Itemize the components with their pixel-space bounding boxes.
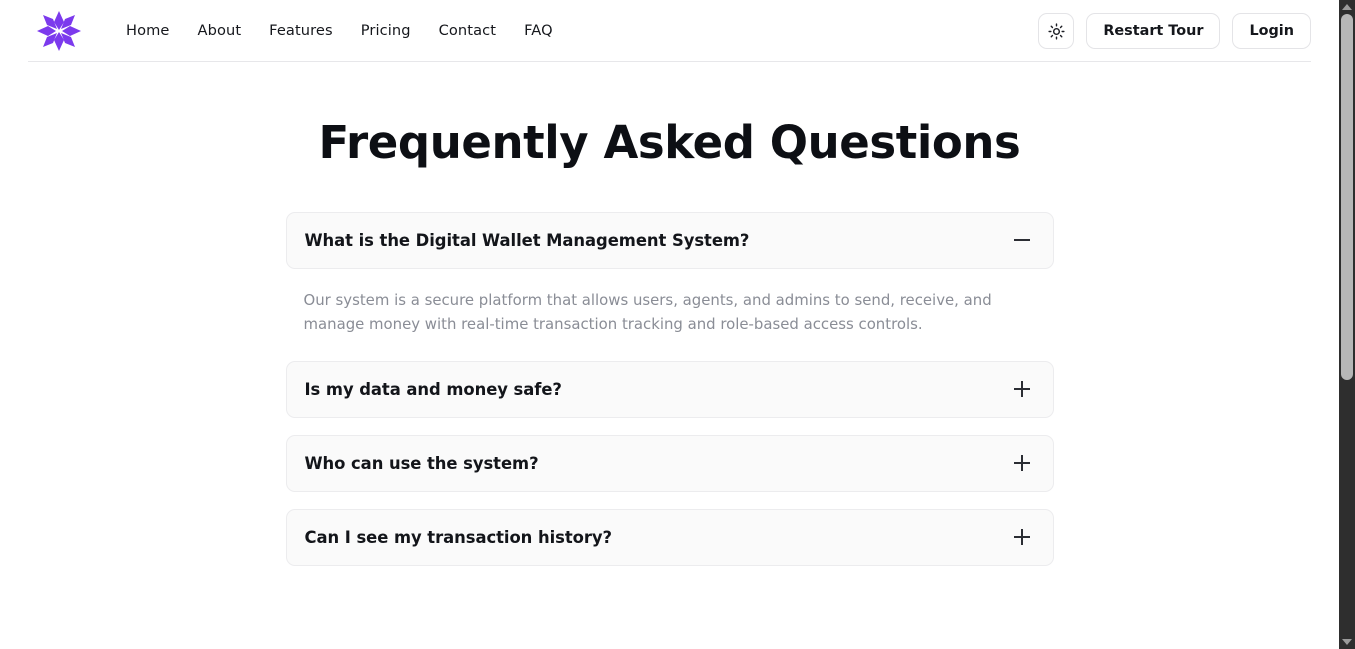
- login-button[interactable]: Login: [1232, 13, 1311, 49]
- nav-link-faq[interactable]: FAQ: [510, 16, 567, 47]
- nav-link-contact[interactable]: Contact: [425, 16, 510, 47]
- nav-link-about[interactable]: About: [184, 16, 256, 47]
- page-root: Home About Features Pricing Contact FAQ: [0, 0, 1339, 649]
- faq-item: Who can use the system?: [286, 435, 1054, 492]
- nav-link-features[interactable]: Features: [255, 16, 347, 47]
- nav-link-pricing[interactable]: Pricing: [347, 16, 425, 47]
- faq-question-toggle[interactable]: Can I see my transaction history?: [286, 509, 1054, 566]
- scrollbar-thumb[interactable]: [1341, 14, 1353, 380]
- faq-answer-text: Our system is a secure platform that all…: [286, 269, 1016, 344]
- faq-item: Can I see my transaction history?: [286, 509, 1054, 566]
- main-content: Frequently Asked Questions What is the D…: [0, 62, 1339, 566]
- nav-link-home[interactable]: Home: [112, 16, 184, 47]
- theme-toggle-button[interactable]: [1038, 13, 1074, 49]
- faq-item: What is the Digital Wallet Management Sy…: [286, 212, 1054, 344]
- minus-icon: [1013, 231, 1031, 249]
- caret-down-icon: [1342, 639, 1352, 645]
- faq-question-toggle[interactable]: Is my data and money safe?: [286, 361, 1054, 418]
- faq-question-text: Is my data and money safe?: [305, 380, 562, 399]
- restart-tour-button[interactable]: Restart Tour: [1086, 13, 1220, 49]
- faq-question-toggle[interactable]: Who can use the system?: [286, 435, 1054, 492]
- faq-question-text: What is the Digital Wallet Management Sy…: [305, 231, 750, 250]
- header-actions: Restart Tour Login: [1038, 13, 1311, 49]
- plus-icon: [1013, 454, 1031, 472]
- sun-icon: [1048, 23, 1065, 40]
- scrollbar-up-arrow[interactable]: [1339, 0, 1355, 14]
- faq-item: Is my data and money safe?: [286, 361, 1054, 418]
- faq-accordion: What is the Digital Wallet Management Sy…: [286, 168, 1054, 566]
- scrollbar-down-arrow[interactable]: [1339, 635, 1355, 649]
- page-title: Frequently Asked Questions: [0, 118, 1339, 168]
- faq-question-text: Can I see my transaction history?: [305, 528, 612, 547]
- faq-question-toggle[interactable]: What is the Digital Wallet Management Sy…: [286, 212, 1054, 269]
- brand-logo[interactable]: [28, 9, 90, 53]
- plus-icon: [1013, 380, 1031, 398]
- main-navigation: Home About Features Pricing Contact FAQ: [112, 16, 567, 47]
- eight-point-star-logo-icon: [31, 9, 87, 53]
- plus-icon: [1013, 528, 1031, 546]
- site-header: Home About Features Pricing Contact FAQ: [0, 0, 1339, 62]
- caret-up-icon: [1342, 4, 1352, 10]
- browser-viewport: Home About Features Pricing Contact FAQ: [0, 0, 1355, 649]
- vertical-scrollbar[interactable]: [1339, 0, 1355, 649]
- faq-question-text: Who can use the system?: [305, 454, 539, 473]
